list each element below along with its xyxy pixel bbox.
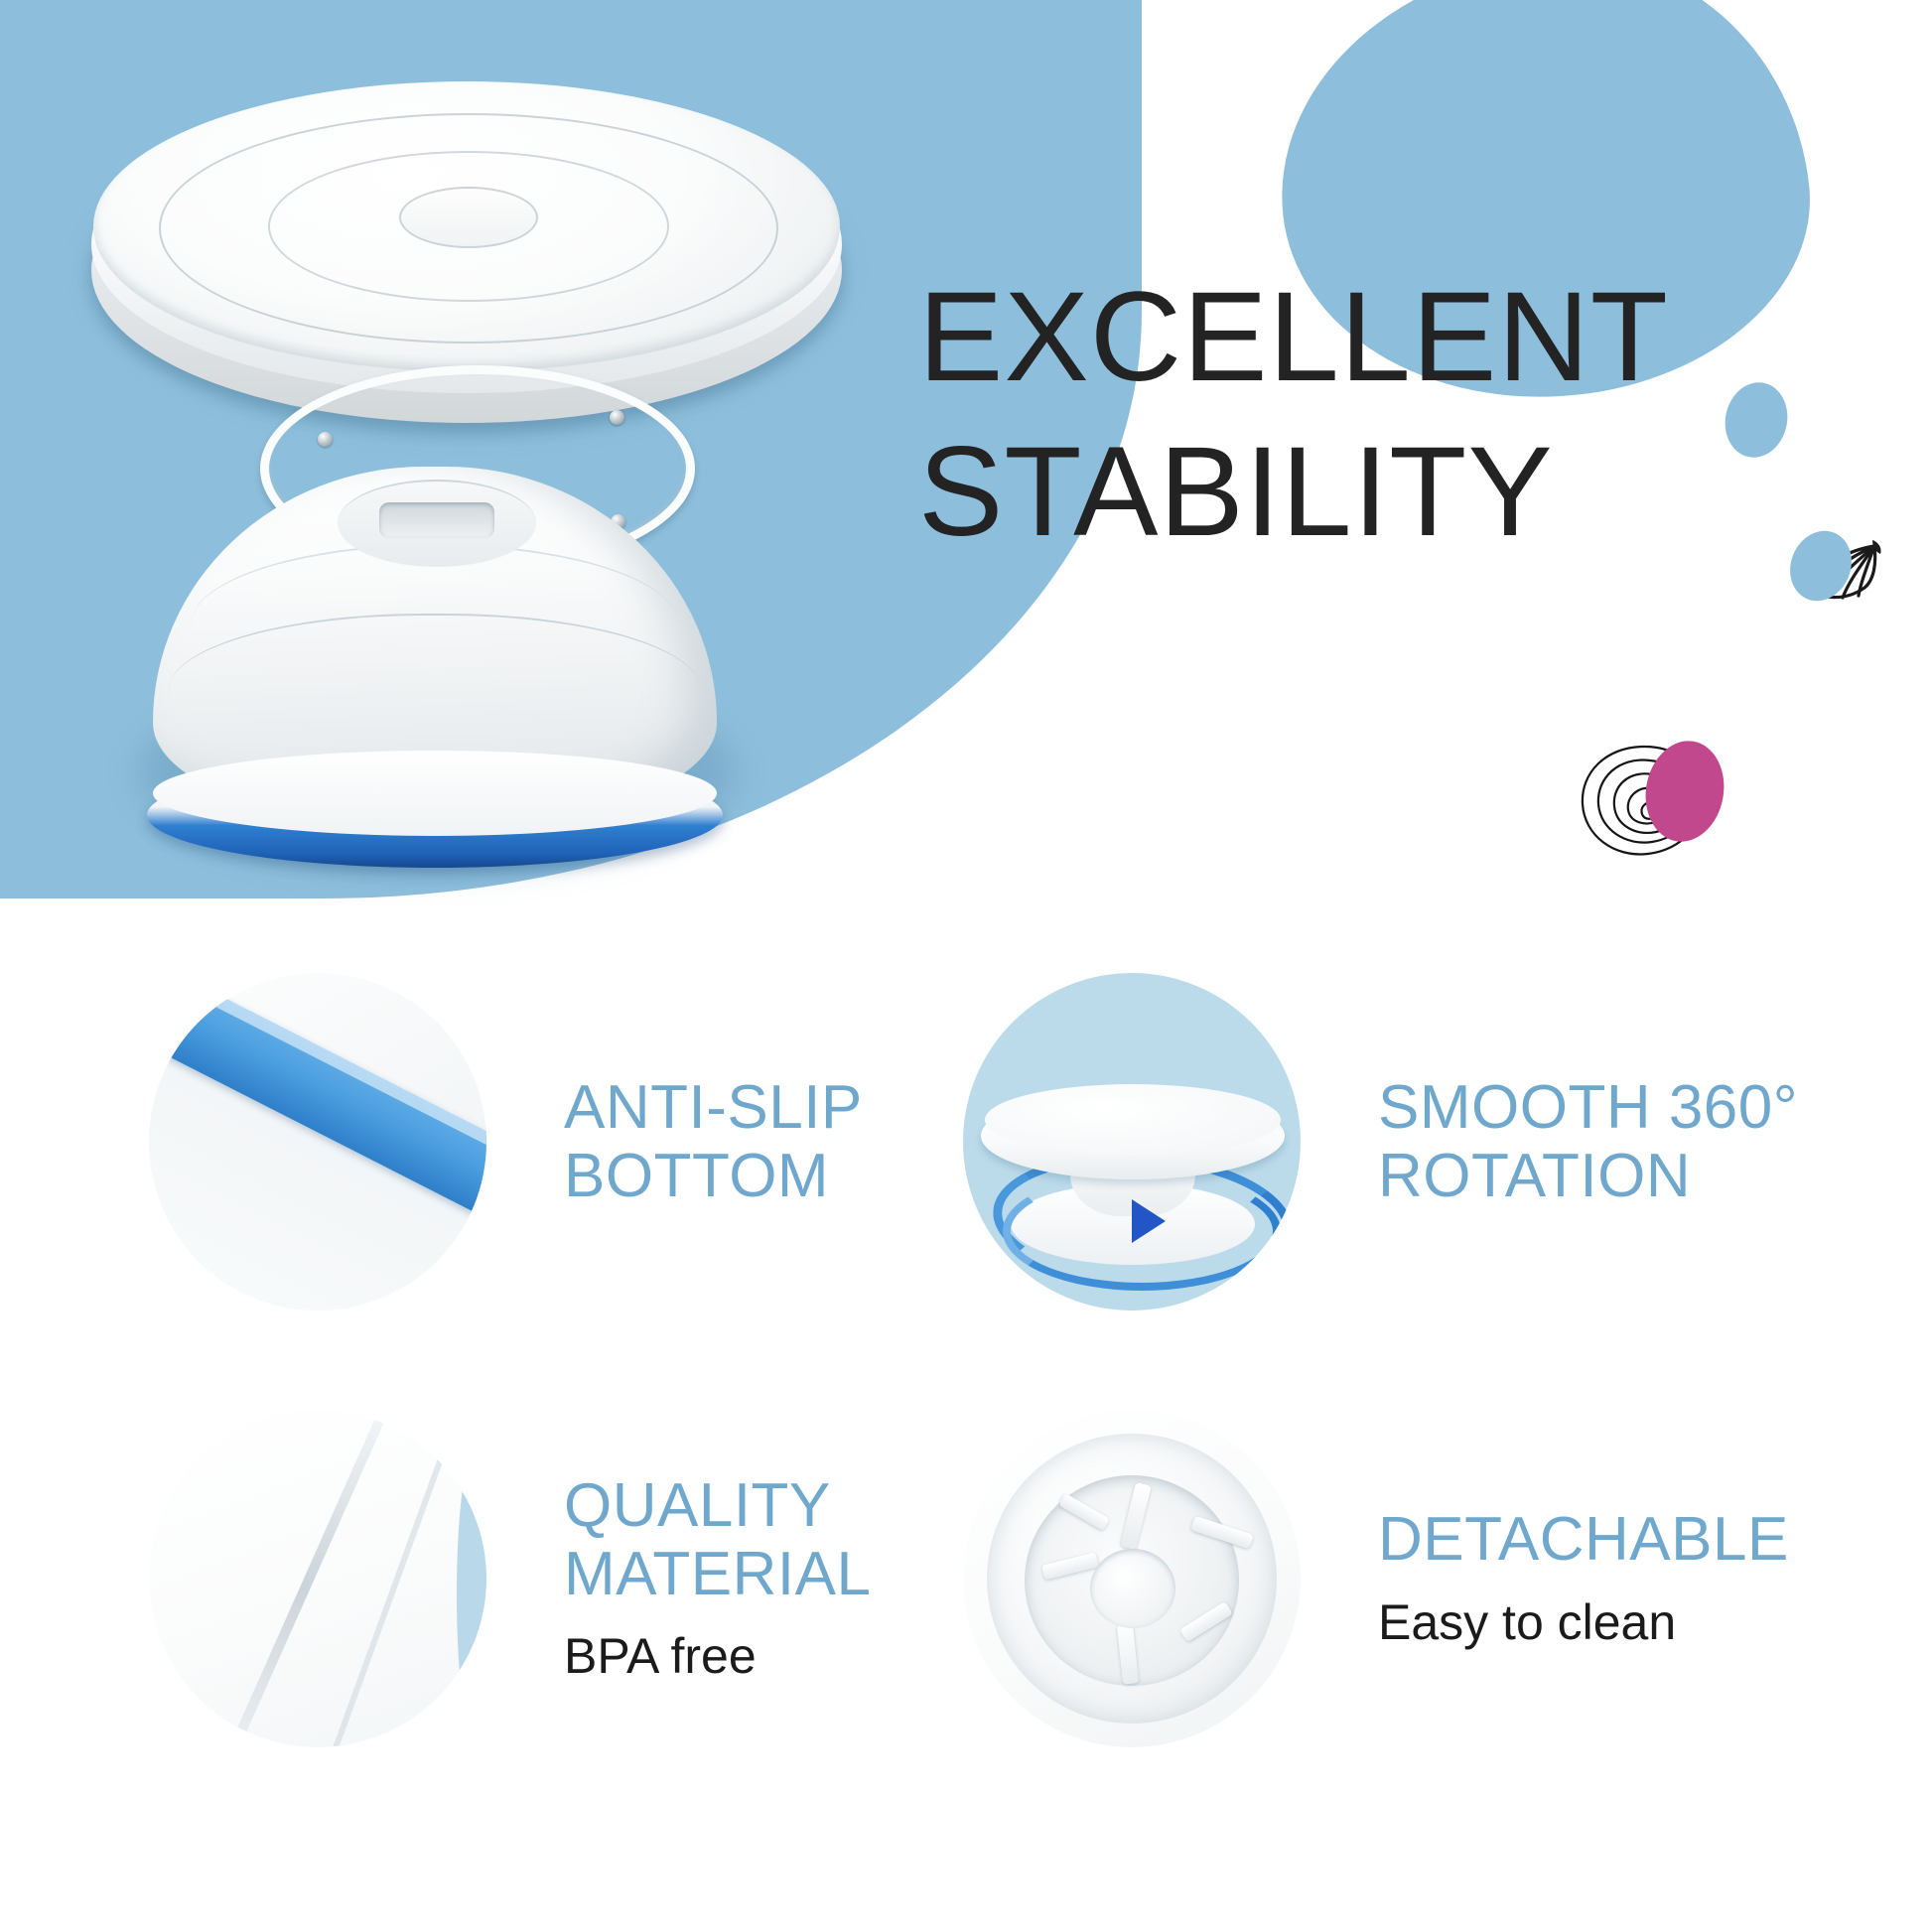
feature-quality-material: QUALITY MATERIAL BPA free	[149, 1410, 871, 1747]
feature-title: QUALITY MATERIAL	[564, 1471, 871, 1609]
feature-thumb-quality	[149, 1410, 486, 1747]
feature-text-quality: QUALITY MATERIAL BPA free	[564, 1471, 871, 1687]
thumb4-center-hub	[1090, 1549, 1175, 1628]
headline-line-2: STABILITY	[918, 415, 1911, 570]
feature-smooth-rotation: SMOOTH 360° ROTATION	[963, 973, 1798, 1311]
feature-thumb-rotation	[963, 973, 1301, 1311]
feature-text-rotation: SMOOTH 360° ROTATION	[1378, 1073, 1798, 1211]
feature-text-detachable: DETACHABLE Easy to clean	[1378, 1505, 1789, 1651]
bracket-screw	[610, 410, 624, 425]
feature-title-line-2: BOTTOM	[564, 1142, 863, 1210]
feature-title-line-2: MATERIAL	[564, 1540, 871, 1608]
feature-anti-slip-bottom: ANTI-SLIP BOTTOM	[149, 973, 863, 1311]
page-title: EXCELLENT STABILITY	[918, 260, 1911, 570]
piping-tip-logo	[1787, 524, 1896, 633]
rotation-arrow-icon	[1132, 1199, 1166, 1243]
base-slot	[379, 502, 494, 538]
feature-subtitle: Easy to clean	[1378, 1592, 1789, 1652]
feature-title-line-2: ROTATION	[1378, 1142, 1798, 1210]
feature-title-line-1: DETACHABLE	[1378, 1505, 1789, 1574]
feature-title: ANTI-SLIP BOTTOM	[564, 1073, 863, 1211]
feature-title-line-1: ANTI-SLIP	[564, 1073, 863, 1142]
feature-subtitle: BPA free	[564, 1626, 871, 1686]
feature-title-line-1: QUALITY	[564, 1471, 871, 1540]
feature-detachable: DETACHABLE Easy to clean	[963, 1410, 1789, 1747]
rose-swirl-logo	[1565, 717, 1724, 876]
feature-title: DETACHABLE	[1378, 1505, 1789, 1574]
bracket-screw	[318, 432, 333, 447]
feature-thumb-detachable	[963, 1410, 1301, 1747]
base-rim-white	[153, 751, 717, 836]
hero-product-image	[62, 77, 886, 921]
feature-title: SMOOTH 360° ROTATION	[1378, 1073, 1798, 1211]
plate-center-boss	[399, 187, 538, 248]
feature-text-anti-slip: ANTI-SLIP BOTTOM	[564, 1073, 863, 1211]
headline-line-1: EXCELLENT	[918, 260, 1911, 415]
thumb3-blue-edge	[457, 1455, 486, 1733]
thumb2-plate-top	[985, 1084, 1281, 1156]
feature-thumb-anti-slip	[149, 973, 486, 1311]
infographic-canvas: EXCELLENT STABILITY	[0, 0, 1932, 1932]
feature-title-line-1: SMOOTH 360°	[1378, 1073, 1798, 1142]
feature-grid: ANTI-SLIP BOTTOM SMOOTH 360° ROTATIO	[0, 955, 1932, 1932]
